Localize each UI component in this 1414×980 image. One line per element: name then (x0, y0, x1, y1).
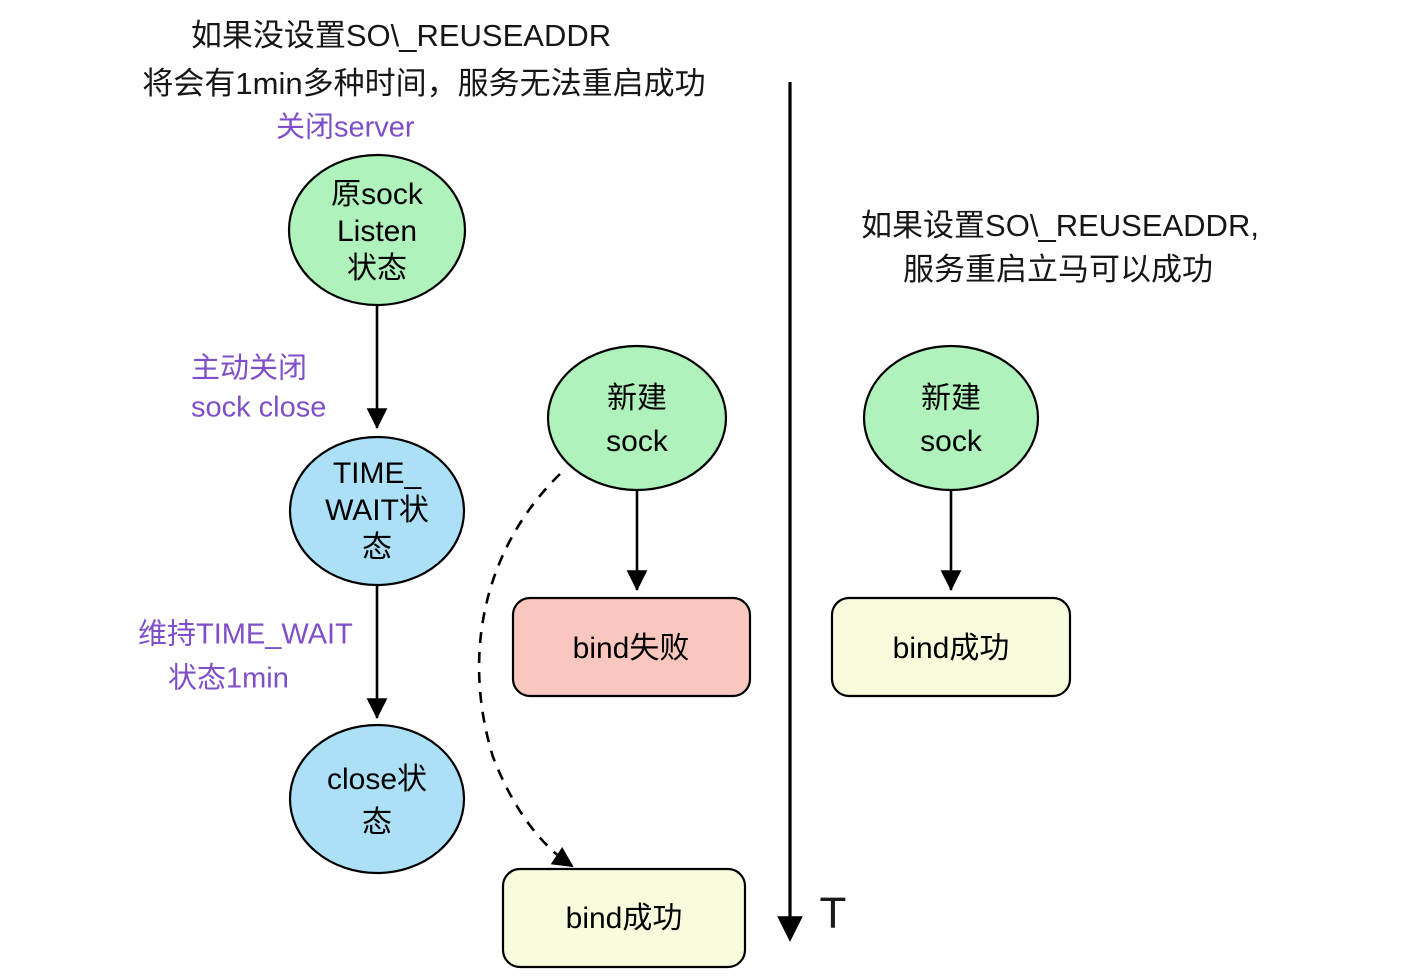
node-time-wait-line2: WAIT状 (325, 494, 429, 527)
node-bind-ok-right[interactable]: bind成功 (832, 598, 1070, 696)
node-new-sock-middle-line1: 新建 (607, 382, 667, 415)
node-bind-ok-left-label: bind成功 (566, 902, 683, 935)
node-new-sock-middle-line2: sock (606, 425, 669, 458)
node-bind-ok-right-label: bind成功 (893, 632, 1010, 665)
node-bind-fail-label: bind失败 (573, 632, 690, 665)
diagram-canvas: 如果没设置SO\_REUSEADDR 将会有1min多种时间，服务无法重启成功 … (0, 0, 1414, 980)
right-note-line2: 服务重启立马可以成功 (903, 252, 1213, 287)
right-note-line1: 如果设置SO\_REUSEADDR, (861, 208, 1259, 243)
node-close-state-line1: close状 (327, 763, 427, 796)
node-bind-fail[interactable]: bind失败 (513, 598, 750, 696)
diagram-root: 如果没设置SO\_REUSEADDR 将会有1min多种时间，服务无法重启成功 … (0, 0, 1414, 980)
edge-label-close-server: 关闭server (276, 111, 415, 144)
edge-label-active-close-line1: 主动关闭 (191, 352, 307, 385)
node-close-state[interactable]: close状 态 (290, 725, 464, 873)
node-time-wait[interactable]: TIME_ WAIT状 态 (290, 437, 464, 585)
edge-label-active-close-line2: sock close (191, 392, 326, 424)
left-note-line2: 将会有1min多种时间，服务无法重启成功 (142, 66, 705, 101)
node-time-wait-line1: TIME_ (333, 457, 423, 490)
node-orig-sock-line2: Listen (337, 215, 417, 248)
node-new-sock-right-line2: sock (920, 425, 983, 458)
node-new-sock-middle[interactable]: 新建 sock (548, 346, 726, 490)
node-close-state-shape (290, 725, 464, 873)
node-new-sock-right-line1: 新建 (921, 382, 981, 415)
node-new-sock-right-shape (864, 346, 1038, 490)
node-orig-sock[interactable]: 原sock Listen 状态 (289, 155, 465, 305)
node-orig-sock-line1: 原sock (331, 178, 424, 211)
node-time-wait-line3: 态 (362, 531, 392, 564)
node-new-sock-right[interactable]: 新建 sock (864, 346, 1038, 490)
node-new-sock-middle-shape (548, 346, 726, 490)
time-axis-label: T (820, 889, 847, 938)
edge-label-hold-timewait-line1: 维持TIME_WAIT (138, 618, 353, 651)
node-close-state-line2: 态 (362, 806, 392, 839)
node-orig-sock-line3: 状态 (347, 252, 407, 285)
edge-label-hold-timewait-line2: 状态1min (168, 662, 289, 695)
node-bind-ok-left[interactable]: bind成功 (503, 869, 745, 967)
left-note-line1: 如果没设置SO\_REUSEADDR (191, 18, 611, 53)
